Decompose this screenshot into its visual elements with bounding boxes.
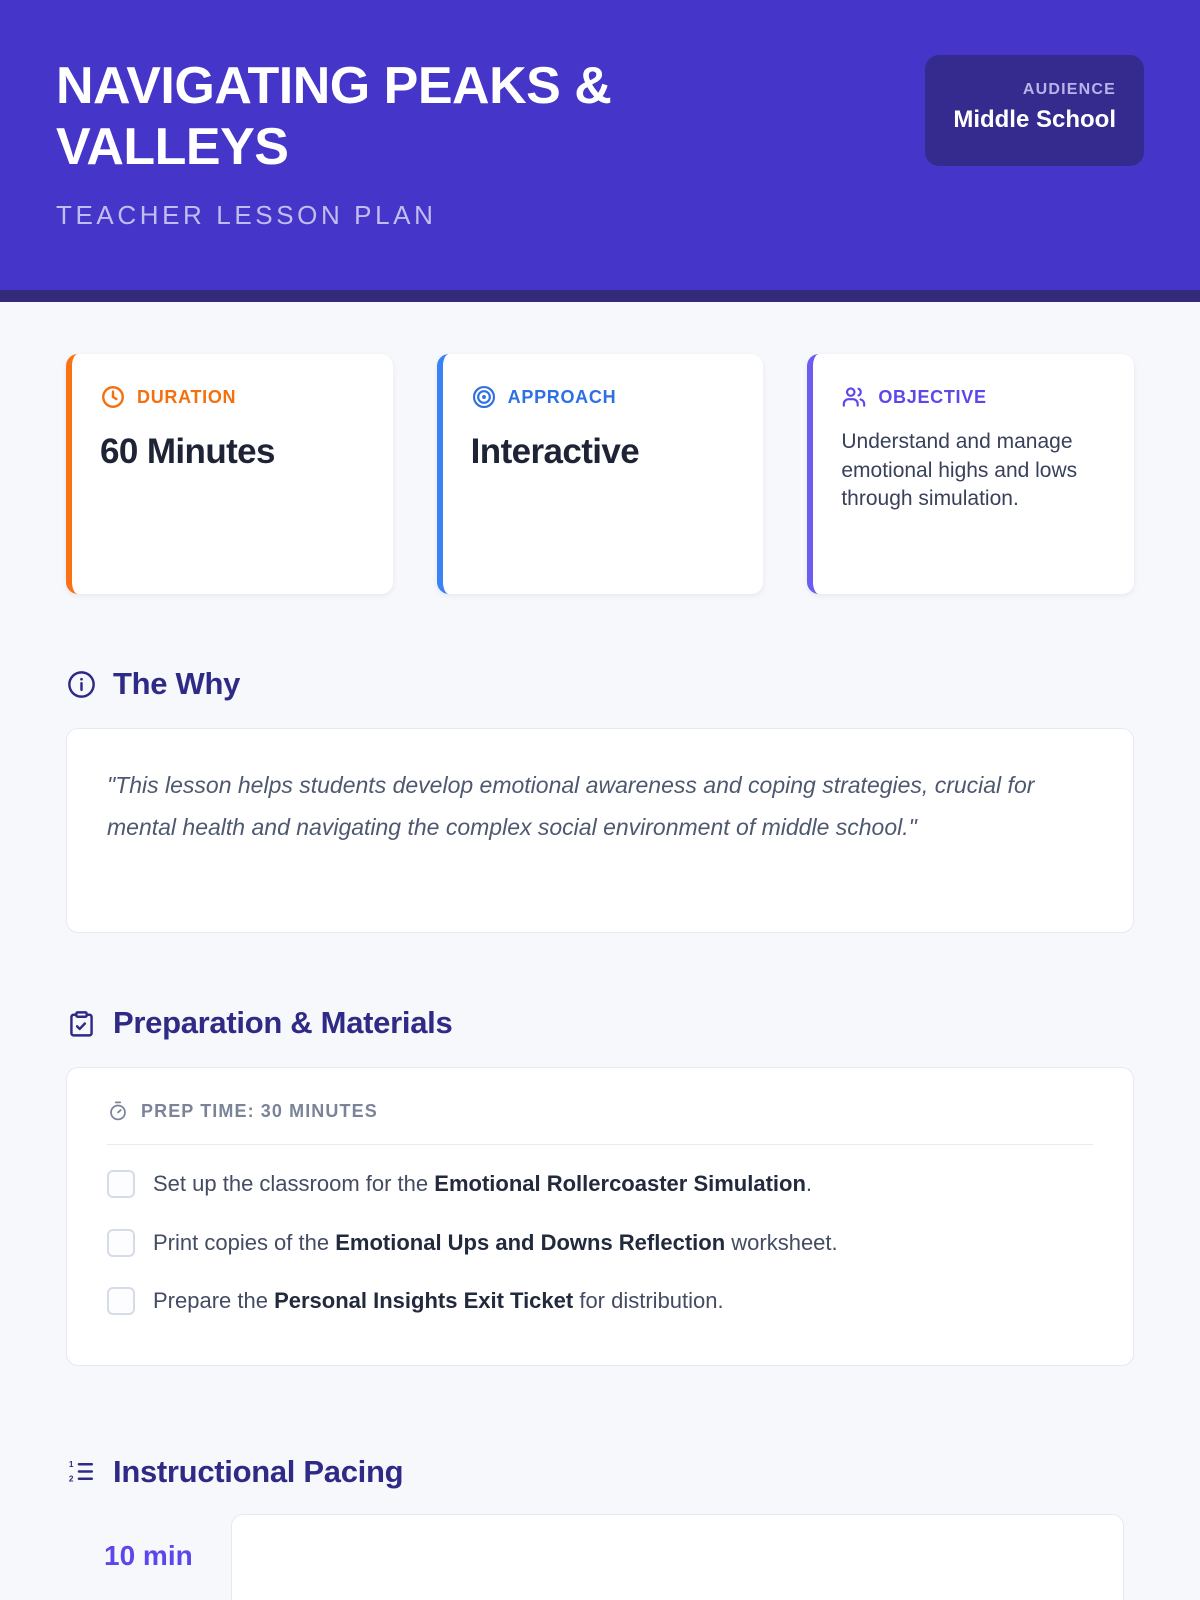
checkbox[interactable]: [107, 1287, 135, 1315]
svg-text:1: 1: [69, 1460, 74, 1469]
checklist-item[interactable]: Set up the classroom for the Emotional R…: [107, 1155, 1093, 1214]
audience-label: AUDIENCE: [953, 81, 1116, 99]
numbered-list-icon: 1 2: [66, 1456, 97, 1487]
section-header-preparation: Preparation & Materials: [66, 1005, 1134, 1041]
info-circle-icon: [66, 669, 97, 700]
header-accent-strip: [0, 290, 1200, 302]
audience-value: Middle School: [953, 104, 1116, 136]
checklist-text-pre: Prepare the: [153, 1288, 274, 1313]
checklist-item[interactable]: Prepare the Personal Insights Exit Ticke…: [107, 1272, 1093, 1331]
why-panel: "This lesson helps students develop emot…: [66, 728, 1134, 933]
target-icon: [471, 384, 497, 410]
info-card-objective-header: OBJECTIVE: [841, 384, 1106, 410]
info-card-approach-value: Interactive: [471, 432, 736, 472]
checkbox[interactable]: [107, 1170, 135, 1198]
audience-badge: AUDIENCE Middle School: [925, 55, 1144, 166]
page-header: NAVIGATING PEAKS & VALLEYS TEACHER LESSO…: [0, 0, 1200, 290]
clipboard-check-icon: [66, 1008, 97, 1039]
section-title-preparation: Preparation & Materials: [113, 1005, 452, 1041]
clock-icon: [100, 384, 126, 410]
section-header-pacing: 1 2 Instructional Pacing: [66, 1454, 1134, 1490]
checklist-text-bold: Personal Insights Exit Ticket: [274, 1288, 573, 1313]
svg-text:2: 2: [69, 1475, 74, 1484]
checklist-text-bold: Emotional Rollercoaster Simulation: [434, 1171, 806, 1196]
info-card-duration: DURATION 60 Minutes: [66, 354, 393, 594]
checklist-text-pre: Set up the classroom for the: [153, 1171, 434, 1196]
info-card-approach: APPROACH Interactive: [437, 354, 764, 594]
preparation-panel: PREP TIME: 30 MINUTES Set up the classro…: [66, 1067, 1134, 1366]
page-subtitle: TEACHER LESSON PLAN: [56, 200, 716, 231]
info-card-group: DURATION 60 Minutes APPROACH Interactive: [66, 354, 1134, 594]
prep-time-text: PREP TIME: 30 MINUTES: [141, 1101, 378, 1122]
info-card-approach-label: APPROACH: [508, 387, 617, 408]
info-card-approach-header: APPROACH: [471, 384, 736, 410]
checkbox[interactable]: [107, 1229, 135, 1257]
info-card-objective-value: Understand and manage emotional highs an…: [841, 428, 1106, 514]
pacing-row-time: 10 min: [104, 1514, 193, 1572]
checklist-text-pre: Print copies of the: [153, 1230, 335, 1255]
preparation-checklist: Set up the classroom for the Emotional R…: [107, 1155, 1093, 1331]
checklist-item-text: Print copies of the Emotional Ups and Do…: [153, 1229, 838, 1258]
checklist-text-post: worksheet.: [725, 1230, 838, 1255]
section-header-why: The Why: [66, 666, 1134, 702]
why-quote: "This lesson helps students develop emot…: [107, 765, 1093, 849]
prep-time-row: PREP TIME: 30 MINUTES: [107, 1100, 1093, 1145]
page-title: NAVIGATING PEAKS & VALLEYS: [56, 56, 716, 178]
info-card-objective-label: OBJECTIVE: [878, 387, 986, 408]
checklist-text-bold: Emotional Ups and Downs Reflection: [335, 1230, 725, 1255]
section-title-why: The Why: [113, 666, 240, 702]
info-card-duration-label: DURATION: [137, 387, 236, 408]
checklist-text-post: .: [806, 1171, 812, 1196]
checklist-text-post: for distribution.: [573, 1288, 723, 1313]
checklist-item-text: Prepare the Personal Insights Exit Ticke…: [153, 1287, 724, 1316]
section-title-pacing: Instructional Pacing: [113, 1454, 403, 1490]
header-text-block: NAVIGATING PEAKS & VALLEYS TEACHER LESSO…: [56, 48, 716, 231]
main-content: DURATION 60 Minutes APPROACH Interactive: [0, 302, 1200, 1600]
info-card-duration-value: 60 Minutes: [100, 432, 365, 472]
checklist-item-text: Set up the classroom for the Emotional R…: [153, 1170, 812, 1199]
checklist-item[interactable]: Print copies of the Emotional Ups and Do…: [107, 1214, 1093, 1273]
users-icon: [841, 384, 867, 410]
info-card-duration-header: DURATION: [100, 384, 365, 410]
pacing-row: 10 min: [66, 1514, 1134, 1600]
pacing-row-card: [231, 1514, 1124, 1600]
info-card-objective: OBJECTIVE Understand and manage emotiona…: [807, 354, 1134, 594]
stopwatch-icon: [107, 1100, 129, 1122]
